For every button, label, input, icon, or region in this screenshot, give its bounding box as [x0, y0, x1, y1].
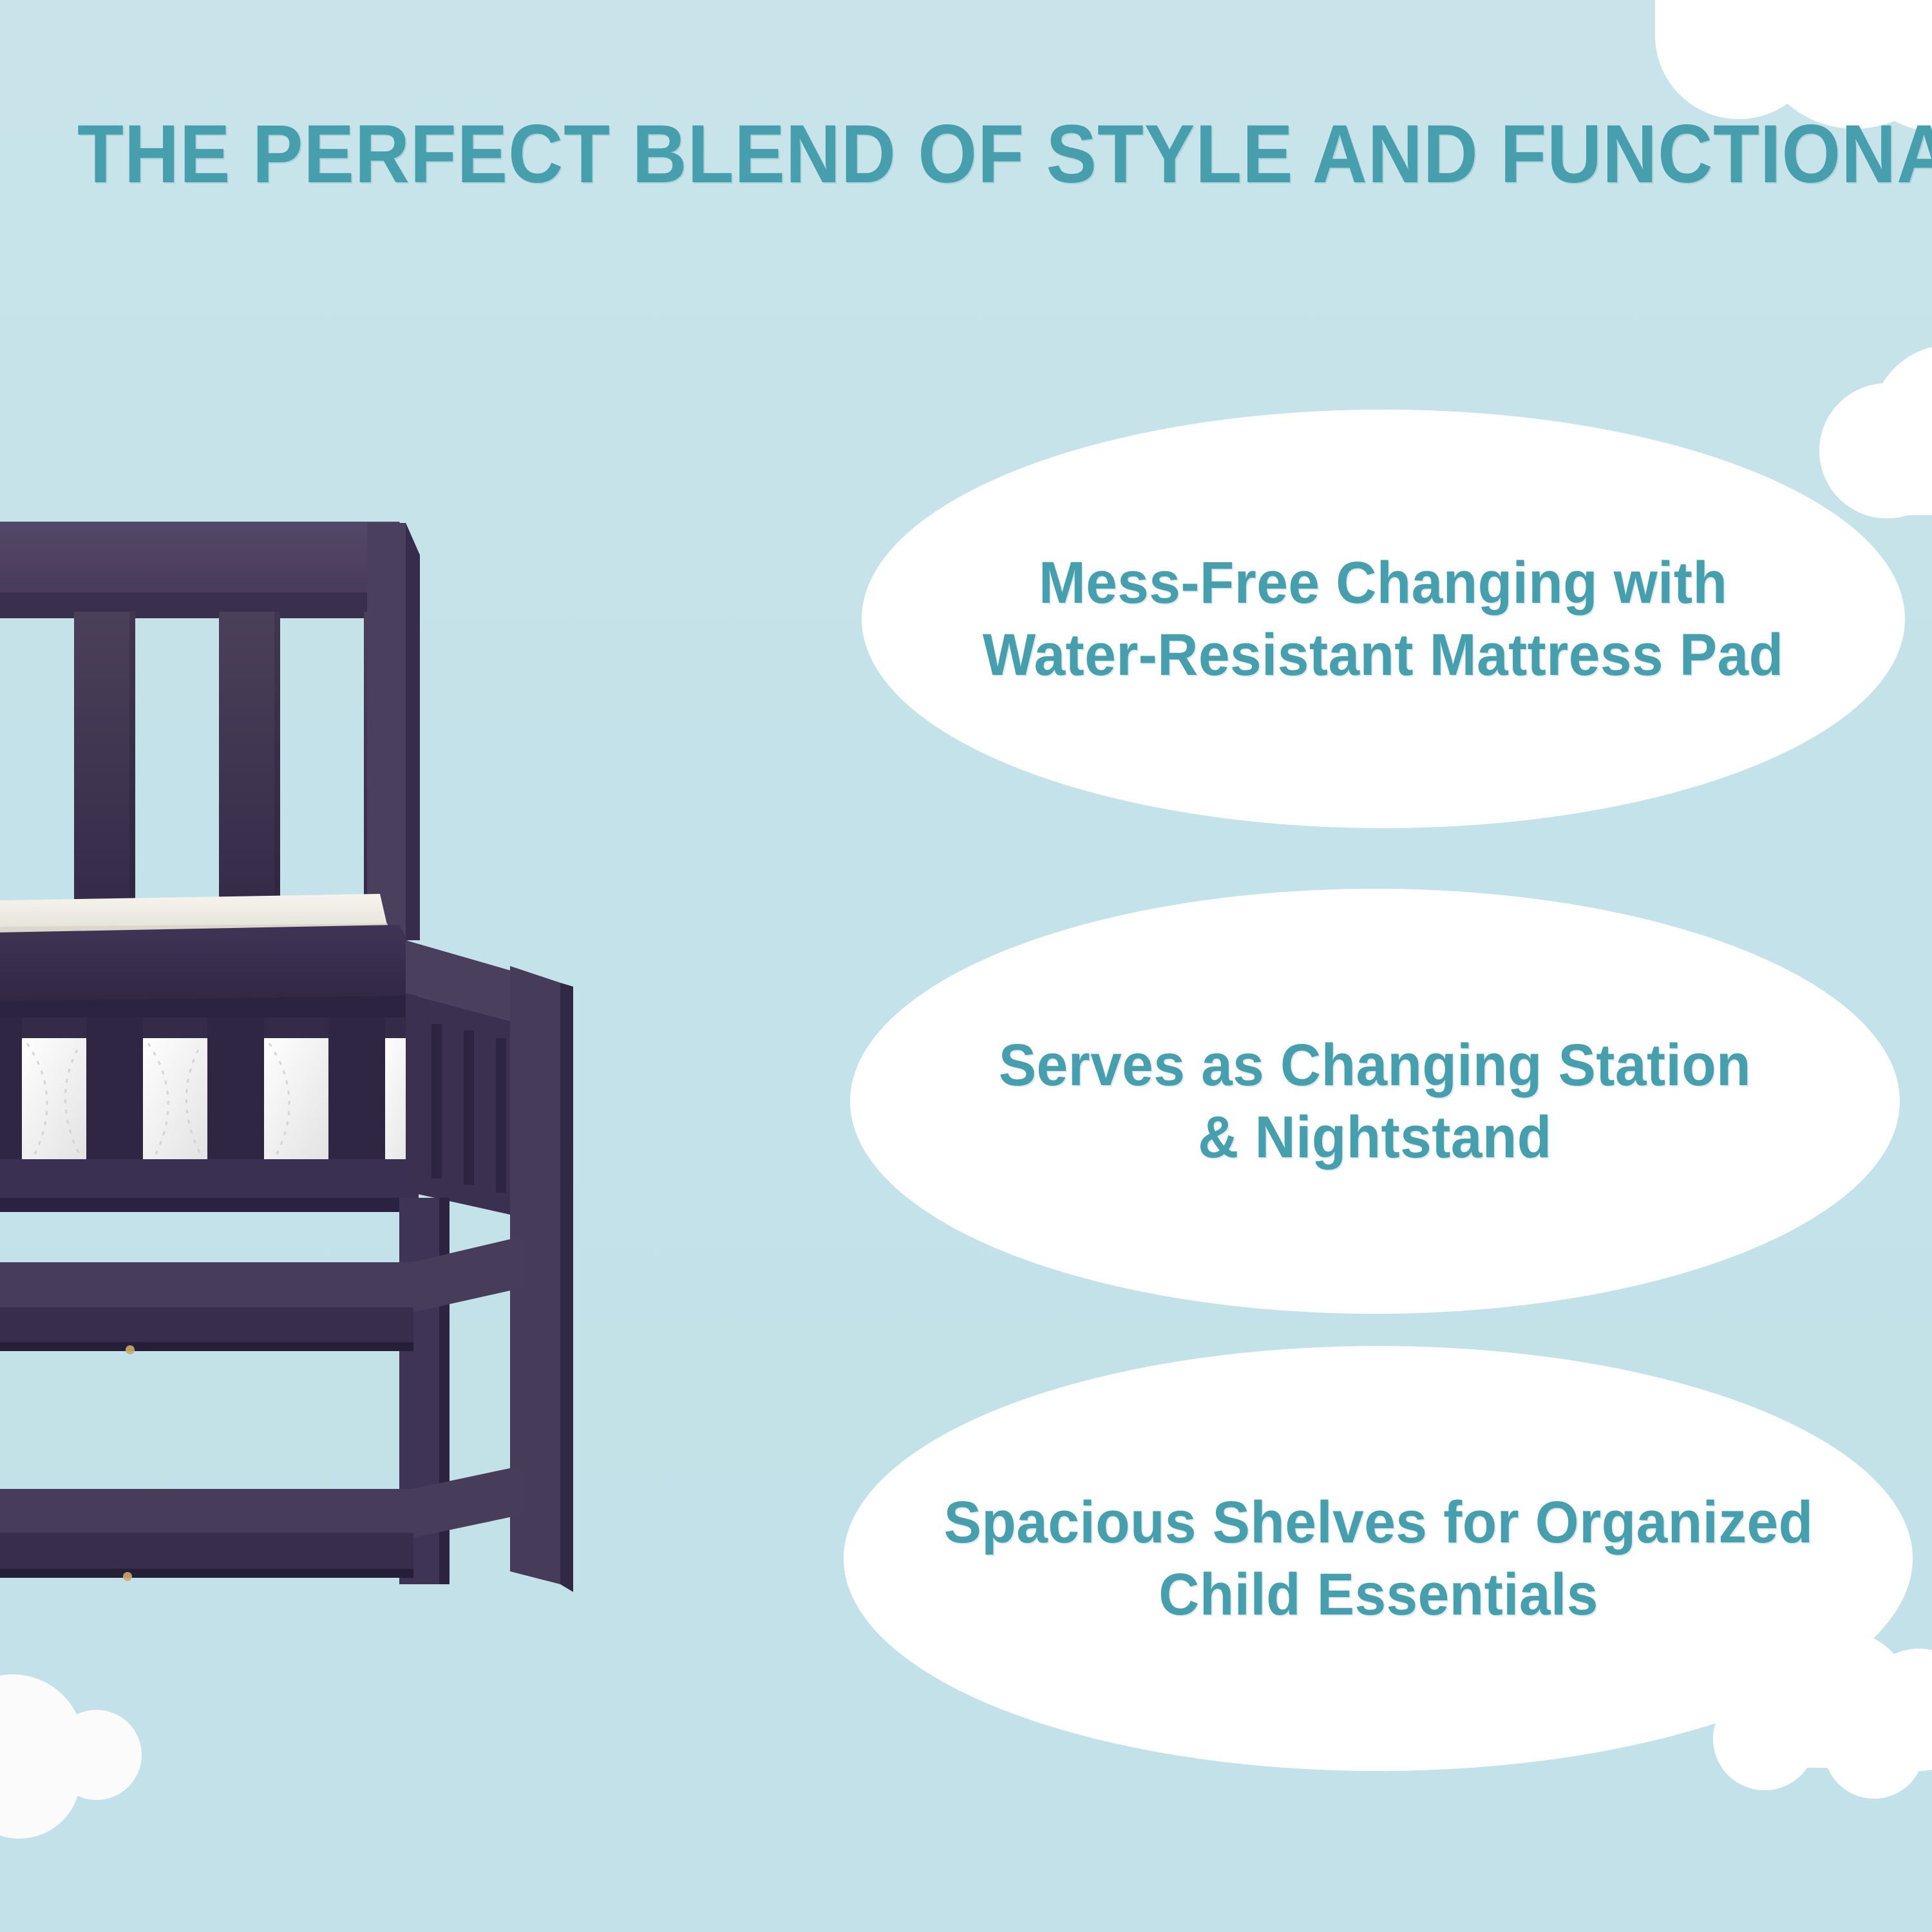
product-image-changing-table: [0, 515, 869, 1610]
feature-bubble-shelves: Spacious Shelves for Organized Child Ess…: [844, 1346, 1913, 1771]
page-title: THE PERFECT BLEND OF STYLE AND FUNCTIONA…: [77, 113, 1855, 196]
cloud-bottom-left: [0, 1674, 142, 1839]
feature-bubble-mess-free: Mess-Free Changing with Water-Resistant …: [862, 410, 1905, 828]
feature-bubble-shelves-label: Spacious Shelves for Organized Child Ess…: [901, 1486, 1856, 1631]
cloud-right-middle: [1819, 345, 1932, 518]
feature-bubble-dual-use-label: Serves as Changing Station & Nightstand: [956, 1029, 1794, 1173]
front-guard-rail: [0, 925, 417, 1027]
feature-bubble-mess-free-label: Mess-Free Changing with Water-Resistant …: [940, 547, 1827, 691]
changing-level-bottom-board: [0, 1159, 419, 1212]
vertical-safety-slats: [0, 612, 419, 908]
feature-bubble-dual-use: Serves as Changing Station & Nightstand: [850, 889, 1900, 1314]
front-slat-row: [0, 1018, 419, 1167]
headboard-corner-post: [367, 523, 420, 940]
infographic-canvas: THE PERFECT BLEND OF STYLE AND FUNCTIONA…: [0, 0, 1932, 1932]
top-guard-rail-assembly: [0, 522, 419, 908]
